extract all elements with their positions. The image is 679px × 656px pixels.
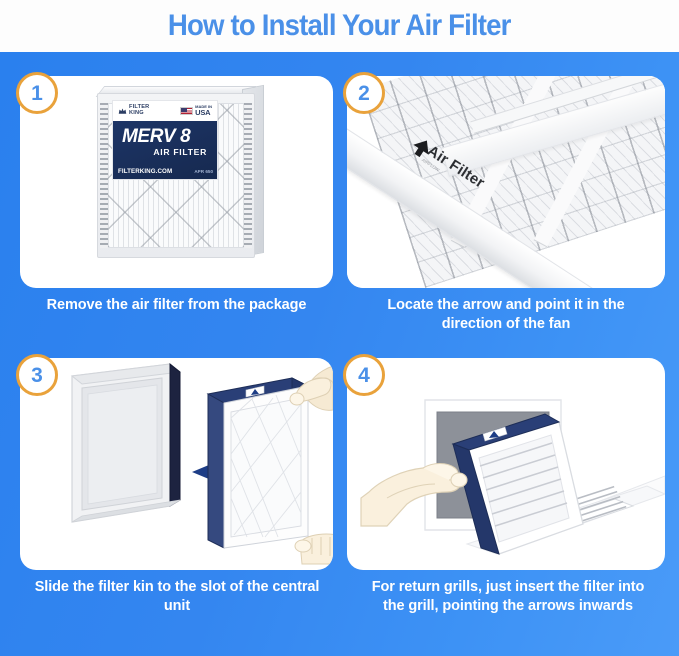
product-label-body: MERV 8 AIR FILTER FILTERKING.COM APR 650 (113, 121, 217, 179)
step-badge-3: 3 (16, 354, 58, 396)
step-4-card (347, 358, 665, 570)
step-panel-2: Air Filter AIRFLOW 2 (347, 76, 665, 288)
hand-icon (295, 534, 333, 564)
step-2-artwork: Air Filter AIRFLOW (347, 76, 665, 288)
made-in-usa-lockup: MADE IN USA (180, 105, 212, 118)
slide-filter-into-unit-illustration (20, 358, 333, 570)
step-caption-1: Remove the air filter from the package (20, 296, 333, 315)
merv-rating: MERV 8 (119, 127, 211, 146)
step-panel-3: 3 (20, 358, 333, 570)
made-in-text: MADE IN USA (195, 105, 212, 118)
step-1-artwork: FILTER KING MADE IN USA (20, 76, 333, 288)
step-4-artwork (347, 358, 665, 570)
step-number-4: 4 (358, 365, 370, 386)
page-title: How to Install Your Air Filter (168, 9, 511, 43)
product-label-footer: FILTERKING.COM APR 650 (118, 168, 213, 175)
step-badge-1: 1 (16, 72, 58, 114)
step-caption-3: Slide the filter kin to the slot of the … (28, 578, 326, 617)
step-3-artwork (20, 358, 333, 570)
usa-flag-icon (180, 107, 193, 115)
apr-rating: APR 650 (194, 169, 213, 174)
step-caption-2: Locate the arrow and point it in the dir… (357, 296, 655, 335)
brand-lockup: FILTER KING (118, 105, 149, 117)
product-type-label: AIR FILTER (119, 147, 211, 157)
filter-pleat-edge-right (244, 103, 252, 248)
step-1-card: FILTER KING MADE IN USA (20, 76, 333, 288)
step-panel-4: 4 (347, 358, 665, 570)
filter-pleat-edge-left (100, 103, 108, 248)
brand-name: FILTER KING (129, 105, 149, 117)
step-number-2: 2 (358, 83, 370, 104)
header-band: How to Install Your Air Filter (0, 0, 679, 52)
step-2-card: Air Filter AIRFLOW (347, 76, 665, 288)
step-badge-4: 4 (343, 354, 385, 396)
return-grill-insert-illustration (347, 358, 665, 570)
step-number-1: 1 (31, 83, 43, 104)
brand-website: FILTERKING.COM (118, 168, 172, 175)
step-number-3: 3 (31, 365, 43, 386)
step-badge-2: 2 (343, 72, 385, 114)
product-label: FILTER KING MADE IN USA (112, 100, 218, 180)
central-unit-housing (72, 364, 180, 522)
step-caption-4: For return grills, just insert the filte… (368, 578, 648, 617)
crown-icon (118, 107, 127, 116)
air-filter-product: FILTER KING MADE IN USA (97, 93, 255, 258)
infographic-root: How to Install Your Air Filter (0, 0, 679, 656)
step-panel-1: FILTER KING MADE IN USA (20, 76, 333, 288)
product-label-header: FILTER KING MADE IN USA (113, 101, 217, 121)
step-3-card (20, 358, 333, 570)
